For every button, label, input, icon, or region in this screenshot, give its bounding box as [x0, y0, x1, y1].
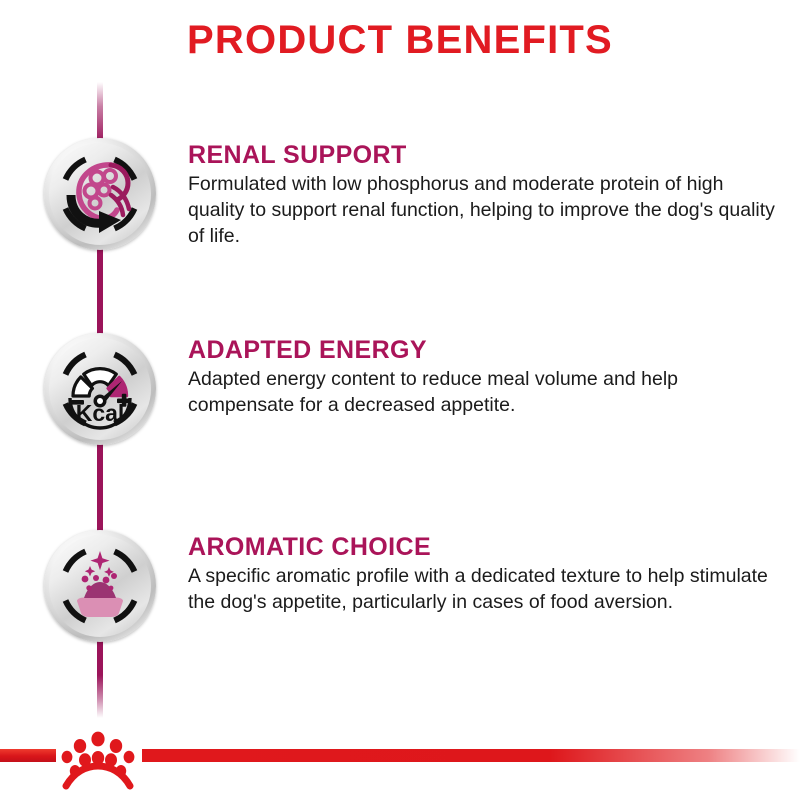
- brand-bar-right-segment: [142, 749, 800, 762]
- benefit-body: A specific aromatic profile with a dedic…: [188, 564, 784, 616]
- kidney-renal-icon: [49, 143, 151, 245]
- benefit-text-aroma: AROMATIC CHOICE A specific aromatic prof…: [188, 534, 784, 616]
- benefit-heading: AROMATIC CHOICE: [188, 534, 784, 560]
- benefit-body: Adapted energy content to reduce meal vo…: [188, 367, 784, 419]
- benefit-text-energy: ADAPTED ENERGY Adapted energy content to…: [188, 337, 784, 419]
- badge-inner-aroma: [49, 535, 151, 637]
- aroma-bowl-icon: [49, 535, 151, 637]
- badge-inner-renal: [49, 143, 151, 245]
- page-title: PRODUCT BENEFITS: [0, 18, 800, 63]
- brand-bar-left-segment: [0, 749, 56, 762]
- badge-inner-energy: Kcal: [49, 338, 151, 440]
- royal-canin-crown-logo: [52, 724, 144, 794]
- badge-renal-support: [44, 138, 156, 250]
- benefit-text-renal: RENAL SUPPORT Formulated with low phosph…: [188, 142, 784, 250]
- badge-adapted-energy: Kcal: [44, 333, 156, 445]
- connector-line-bottom: [97, 640, 103, 718]
- benefit-heading: RENAL SUPPORT: [188, 142, 784, 168]
- badge-aromatic-choice: [44, 530, 156, 642]
- benefit-body: Formulated with low phosphorus and moder…: [188, 172, 784, 250]
- kcal-gauge-icon: Kcal: [49, 338, 151, 440]
- footer-brand-bar: [0, 718, 800, 800]
- benefit-heading: ADAPTED ENERGY: [188, 337, 784, 363]
